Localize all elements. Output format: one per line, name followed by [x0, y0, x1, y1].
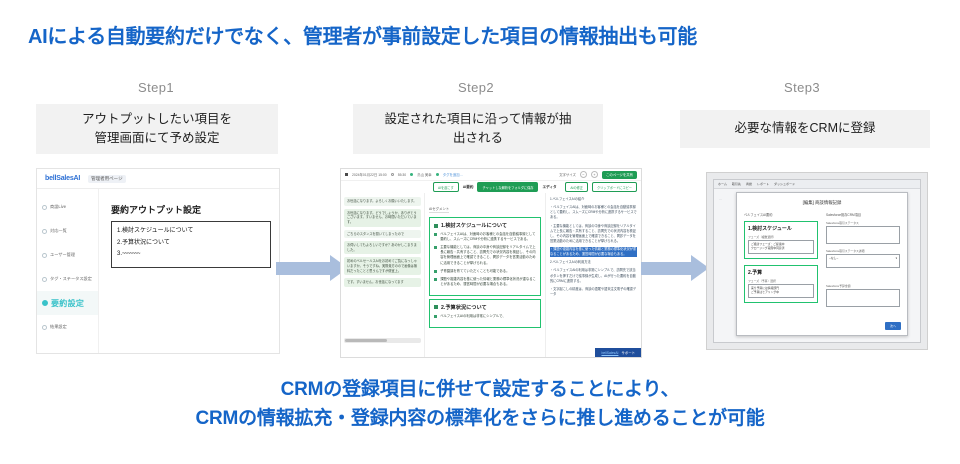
- ai-summary-label: AI要約: [463, 185, 474, 190]
- bullet-marker-icon: [434, 233, 437, 236]
- transcript-message: お世話になります。よろしくお願いいたします。: [344, 197, 421, 206]
- menu-item[interactable]: レポート: [757, 182, 769, 186]
- bullet-marker-icon: [434, 246, 437, 249]
- extracted-bullet-text: 課題や複雑内容を基に使った情報と業務の標準化状況が重なることがあるため、運営時間…: [440, 277, 536, 287]
- sidebar-item-list[interactable]: 対応一覧: [37, 219, 98, 243]
- editor-paragraph: 1.ベルフェイスAIの紹介: [550, 197, 637, 202]
- option-2[interactable]: ご予算はヒアリング中: [751, 290, 779, 294]
- crm-group-2: 2.予算 フェーズ（予算）選択 来り予算には情報部門 ご予算はヒアリング中: [744, 265, 818, 303]
- sidebar-item-users[interactable]: ユーザー管理: [37, 243, 98, 267]
- step1-body: 商談Live 対応一覧 ユーザー管理 タグ・ステータス設定 要約設定 結果設定: [37, 189, 279, 353]
- right-column-head: Salesforce既存CRM項目: [826, 212, 900, 217]
- wakeup-ai-chip[interactable]: AIを起こす: [433, 182, 459, 192]
- copy-clipboard-chip[interactable]: クリップボードにコピー: [592, 182, 637, 192]
- footer-text: サポート: [621, 350, 635, 355]
- crm-right-select[interactable]: --なし-- ▾: [826, 254, 900, 268]
- left-column-head: ベルフェイスAI要約: [744, 212, 818, 217]
- option-list: ご検討フェーズ：ご提案中 クロージング段階中同意済: [751, 242, 785, 252]
- bullet-marker-icon: [434, 278, 437, 281]
- step3-screenshot: ホーム 取引先 商談 レポート ダッシュボード … [編集] 商談情報記録 ベル…: [706, 172, 928, 350]
- menu-item[interactable]: 商談: [746, 182, 752, 186]
- step-label-2: Step2: [416, 80, 536, 95]
- bullet-marker-icon: [434, 270, 437, 273]
- step-label-1: Step1: [96, 80, 216, 95]
- list-icon: [42, 229, 47, 234]
- crm-menubar: ホーム 取引先 商談 レポート ダッシュボード: [714, 180, 920, 189]
- user-icon: [42, 253, 47, 258]
- font-size-label: 文字サイズ: [559, 172, 576, 177]
- crm-group-1-multiselect[interactable]: ご検討フェーズ：ご提案中 クロージング段階中同意済: [748, 240, 814, 254]
- bullet-marker-icon: [434, 315, 437, 318]
- footer-brand[interactable]: bellSalesAI: [601, 351, 618, 355]
- ai-segment-tab[interactable]: AIセグメント: [429, 206, 449, 213]
- transcript-message: ごちらのスタンスを聞いてしまったので: [344, 230, 421, 239]
- extracted-item-1-title-text: 1.検討スケジュールについて: [441, 222, 507, 229]
- sidebar-item-label: ユーザー管理: [50, 252, 75, 258]
- bulb-icon: [42, 300, 48, 306]
- summary-item-3[interactable]: 3.~~~~~~~: [117, 249, 265, 261]
- extracted-bullet: ベルフェイスAIは、対面時のお客様との会話を自動議事録として要約し、スムーズにC…: [434, 232, 536, 242]
- sidebar-item-label: 商談Live: [50, 204, 66, 210]
- editor-paragraph: ・ベルフェイスAIの利用は非常にシンプルで、訪問先で該当ボタンを押すだけで議事録…: [550, 268, 637, 283]
- meeting-datetime: 2024年01月22日 15:00: [352, 172, 387, 177]
- summary-item-1[interactable]: 1.検討スケジュールについて: [117, 226, 265, 238]
- summary-output-heading: 要約アウトプット設定: [111, 203, 271, 216]
- bottom-message: CRMの登録項目に併せて設定することにより、 CRMの情報拡充・登録内容の標準化…: [0, 376, 960, 433]
- share-page-button[interactable]: このページを共有: [602, 171, 637, 179]
- extracted-item-2-title: 2.予算状況について: [434, 304, 536, 311]
- step-label-3: Step3: [742, 80, 862, 95]
- bullet-marker-icon: [434, 224, 438, 228]
- arrow-step2-to-step3: [641, 255, 709, 281]
- save-to-folder-chip[interactable]: チャットしな解析をフォルダに保存: [477, 182, 538, 192]
- sidebar-item-tags[interactable]: タグ・ステータス設定: [37, 267, 98, 291]
- menu-item[interactable]: 取引先: [732, 182, 741, 186]
- step2-columns: お世話になります。よろしくお願いいたします。 お世話になります。どうでしょうか、…: [341, 193, 641, 357]
- sidebar-item-result-settings[interactable]: 結果設定: [37, 315, 98, 339]
- summary-items-box: 1.検討スケジュールについて 2.予算状況について 3.~~~~~~~: [111, 221, 271, 268]
- crm-right-label-2: Salesforce取引ステータス詳細: [826, 249, 900, 253]
- arrow-shaft: [641, 262, 692, 275]
- dialog-left-column: ベルフェイスAI要約 1.検討スケジュール フェーズ（複数選択） ご検討フェーズ…: [744, 212, 818, 312]
- sidebar-item-summary-settings[interactable]: 要約設定: [37, 291, 98, 315]
- option-list: 来り予算には情報部門 ご予算はヒアリング中: [751, 286, 779, 296]
- extracted-item-1-title: 1.検討スケジュールについて: [434, 222, 536, 229]
- dialog-next-button[interactable]: 次へ: [885, 322, 901, 330]
- bellsalesai-logo: bellSalesAI: [45, 175, 80, 182]
- step1-topbar: bellSalesAI 管理者用ページ: [37, 169, 279, 189]
- arrow-step1-to-step2: [276, 255, 348, 281]
- transcript-message: お伺いしてもよろしいですか？あのかしこまりました。: [344, 241, 421, 254]
- meeting-duration: 55:30: [398, 173, 407, 177]
- menu-item[interactable]: ダッシュボード: [774, 182, 795, 186]
- bottom-message-line2: CRMの情報拡充・登録内容の標準化をさらに推し進めることが可能: [0, 405, 960, 434]
- dialog-columns: ベルフェイスAI要約 1.検討スケジュール フェーズ（複数選択） ご検討フェーズ…: [737, 212, 907, 312]
- crm-group-2-title: 2.予算: [748, 269, 814, 276]
- step-caption-3: 必要な情報をCRMに登録: [680, 110, 930, 148]
- live-icon: [42, 205, 47, 210]
- editor-paragraph: ・ベルフェイスAIは、対面時のお客様との会話を自動議事録として要約し、スムーズに…: [550, 205, 637, 220]
- option-2[interactable]: クロージング段階中同意済: [751, 246, 785, 250]
- option-1[interactable]: ご検討フェーズ：ご提案中: [751, 242, 784, 246]
- step-caption-1: アウトプットしたい項目を 管理画面にて予め設定: [36, 104, 278, 154]
- extracted-item-1-box: 1.検討スケジュールについて ベルフェイスAIは、対面時のお客様との会話を自動議…: [429, 217, 541, 296]
- admin-badge: 管理者用ページ: [88, 175, 125, 183]
- dialog-right-column: Salesforce既存CRM項目 Salesforce取引ステータス Sale…: [826, 212, 900, 312]
- calendar-icon: [345, 173, 348, 176]
- extracted-item-2-box: 2.予算状況について ベルフェイスAIの利用は非常にシンプルで、: [429, 299, 541, 328]
- extracted-bullet-text: 子育園講を育てていただくことも可能である。: [440, 269, 509, 274]
- ai-summary-column: AIセグメント 1.検討スケジュールについて ベルフェイスAIは、対面時のお客様…: [425, 193, 545, 357]
- bottom-message-line1: CRMの登録項目に併せて設定することにより、: [0, 376, 960, 405]
- page-title: AIによる自動要約だけでなく、管理者が事前設定した項目の情報抽出も可能: [28, 20, 697, 49]
- sidebar-item-label: 結果設定: [50, 324, 67, 330]
- add-tag-link[interactable]: タグを追加…: [443, 172, 463, 177]
- step-caption-2: 設定された項目に沿って情報が抽 出される: [353, 104, 603, 154]
- crm-right-label-3: Salesforce予算金額: [826, 284, 900, 288]
- crm-group-2-multiselect[interactable]: 来り予算には情報部門 ご予算はヒアリング中: [748, 284, 814, 298]
- zoom-in-button[interactable]: +: [591, 171, 598, 178]
- sidebar-item-live[interactable]: 商談Live: [37, 195, 98, 219]
- zoom-out-button[interactable]: −: [580, 171, 587, 178]
- sidebar-item-label: タグ・ステータス設定: [50, 276, 92, 282]
- step2-tabrow: AIを起こす AI要約 チャットしな解析をフォルダに保存 エディタ AIの修正 …: [341, 181, 641, 193]
- editor-paragraph: ・文字起こしの精度は、商談の語尾や語末注文電子の確認データ: [550, 287, 637, 297]
- crm-right-textarea-2[interactable]: [826, 289, 900, 307]
- transcript-column[interactable]: お世話になります。よろしくお願いいたします。 お世話になります。どうでしょうか、…: [341, 193, 425, 357]
- step1-main-panel: 要約アウトプット設定 1.検討スケジュールについて 2.予算状況について 3.~…: [99, 189, 279, 353]
- step-caption-3-text: 必要な情報をCRMに登録: [735, 119, 876, 138]
- transcript-message: お世話になります。どうでしょうか、ありがとうございます。すいません、お時間いただ…: [344, 209, 421, 227]
- crm-group-2-field-label: フェーズ（予算）選択: [748, 279, 814, 283]
- crm-right-select-value: --なし--: [829, 256, 838, 266]
- menu-item[interactable]: ホーム: [718, 182, 727, 186]
- transcript-scrollbar[interactable]: [344, 338, 421, 343]
- extracted-bullet-text: ベルフェイスAIは、対面時のお客様との会話を自動議事録として要約し、スムーズにC…: [440, 232, 536, 242]
- extracted-bullet-text: 主要な機能としては、商談の中身や商談記録をリアルタイムで上長に報告・共有すること…: [440, 245, 536, 265]
- extracted-item-2-title-text: 2.予算状況について: [441, 304, 487, 311]
- chevron-down-icon: ▾: [896, 256, 897, 266]
- step1-screenshot: bellSalesAI 管理者用ページ 商談Live 対応一覧 ユーザー管理 タ…: [36, 168, 280, 354]
- sidebar-item-label: 対応一覧: [50, 228, 67, 234]
- extracted-bullet: 主要な機能としては、商談の中身や商談記録をリアルタイムで上長に報告・共有すること…: [434, 245, 536, 265]
- ai-edit-chip[interactable]: AIの修正: [565, 182, 588, 192]
- scrollbar-thumb[interactable]: [345, 339, 387, 342]
- editor-paragraph: ・主要な機能としては、商談の中身や商談記録をリアルタイムで上長に報告・共有するこ…: [550, 224, 637, 245]
- sidebar-item-label: 要約設定: [51, 298, 84, 309]
- tag-icon: [42, 277, 47, 282]
- step2-topbar: 2024年01月22日 15:00 55:30 鳥山 美幸 タグを追加… 文字サ…: [341, 169, 641, 181]
- editor-column[interactable]: 1.ベルフェイスAIの紹介 ・ベルフェイスAIは、対面時のお客様との会話を自動議…: [545, 193, 641, 357]
- crm-edit-dialog: [編集] 商談情報記録 ベルフェイスAI要約 1.検討スケジュール フェーズ（複…: [736, 192, 908, 336]
- crm-right-label-1: Salesforce取引ステータス: [826, 221, 900, 225]
- chart-icon: [42, 325, 47, 330]
- crm-group-1-field-label: フェーズ（複数選択）: [748, 235, 814, 239]
- crm-group-1-title: 1.検討スケジュール: [748, 225, 814, 232]
- summary-item-2[interactable]: 2.予算状況について: [117, 238, 265, 250]
- step1-sidebar: 商談Live 対応一覧 ユーザー管理 タグ・ステータス設定 要約設定 結果設定: [37, 189, 99, 353]
- step-caption-1-text: アウトプットしたい項目を 管理画面にて予め設定: [82, 110, 232, 149]
- arrow-shaft: [276, 262, 331, 275]
- editor-paragraph-selected: ・課題や複雑内容を基に使った情報と業務の標準化状況が重なることがあるため、運営時…: [550, 247, 637, 257]
- tag-icon: [436, 173, 439, 176]
- owner-icon: [410, 173, 413, 176]
- step2-screenshot: 2024年01月22日 15:00 55:30 鳥山 美幸 タグを追加… 文字サ…: [340, 168, 642, 358]
- extracted-bullet: ベルフェイスAIの利用は非常にシンプルで、: [434, 314, 536, 319]
- crm-background-text: …: [719, 198, 735, 203]
- step-caption-2-text: 設定された項目に沿って情報が抽 出される: [385, 110, 572, 149]
- option-1[interactable]: 来り予算には情報部門: [751, 286, 779, 290]
- summary-item-3-dashes: ~~~~~~~: [122, 251, 140, 257]
- extracted-bullet-text: ベルフェイスAIの利用は非常にシンプルで、: [440, 314, 505, 319]
- support-footer[interactable]: bellSalesAI サポート: [595, 348, 641, 357]
- editor-paragraph: 2.ベルフェイスAIの利用方法: [550, 260, 637, 265]
- crm-right-textarea-1[interactable]: [826, 226, 900, 244]
- meeting-owner: 鳥山 美幸: [417, 172, 432, 177]
- transcript-message: です。すいません。お世話になってます: [344, 278, 421, 287]
- editor-label: エディタ: [542, 185, 556, 190]
- transcript-message: 初めのベルセールスAIをお初めてご覧になっしゃいますか。そうですね。実際貴方のの…: [344, 257, 421, 275]
- crm-group-1: 1.検討スケジュール フェーズ（複数選択） ご検討フェーズ：ご提案中 クロージン…: [744, 221, 818, 259]
- bullet-marker-icon: [434, 305, 438, 309]
- extracted-bullet: 子育園講を育てていただくことも可能である。: [434, 269, 536, 274]
- crm-browser-window: ホーム 取引先 商談 レポート ダッシュボード … [編集] 商談情報記録 ベル…: [713, 179, 921, 343]
- extracted-bullet: 課題や複雑内容を基に使った情報と業務の標準化状況が重なることがあるため、運営時間…: [434, 277, 536, 287]
- dialog-title: [編集] 商談情報記録: [737, 193, 907, 212]
- clock-icon: [391, 173, 394, 176]
